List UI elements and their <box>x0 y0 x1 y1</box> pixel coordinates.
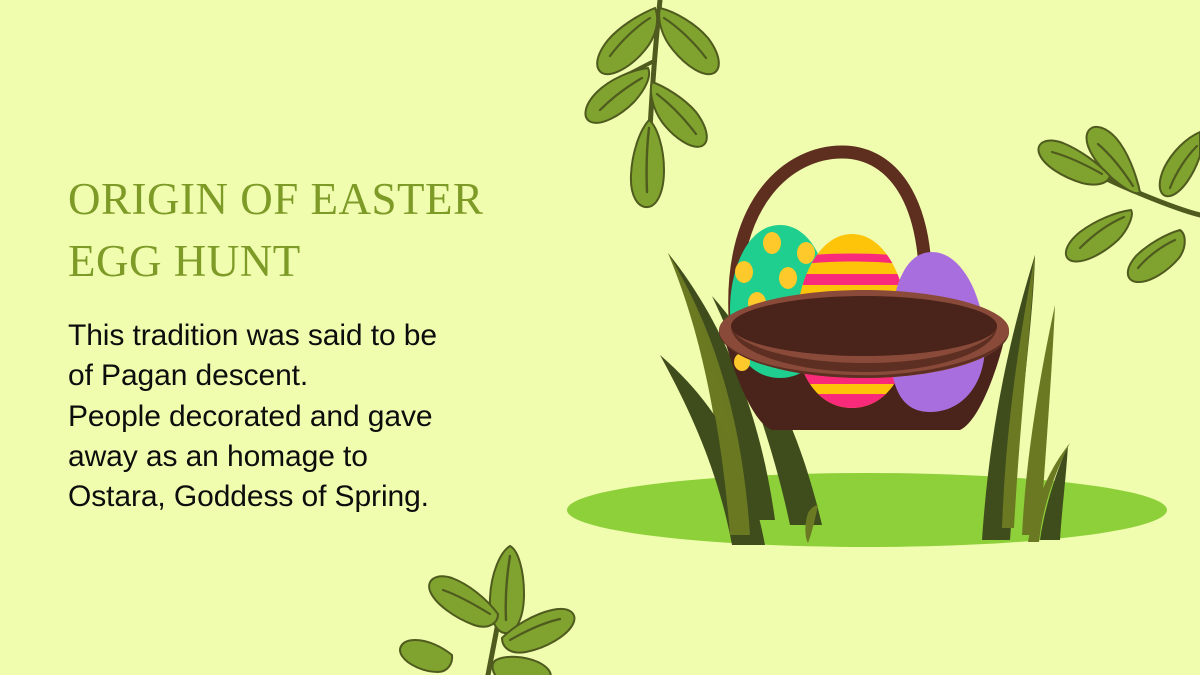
page-body-text: This tradition was said to be of Pagan d… <box>68 316 568 517</box>
page-title: ORIGIN OF EASTER EGG HUNT <box>68 168 568 292</box>
slide-canvas: ORIGIN OF EASTER EGG HUNT This tradition… <box>0 0 1200 675</box>
text-content-block: ORIGIN OF EASTER EGG HUNT This tradition… <box>68 168 568 517</box>
basket-rim-inner-hole <box>731 296 997 356</box>
ground-ellipse <box>567 473 1167 547</box>
